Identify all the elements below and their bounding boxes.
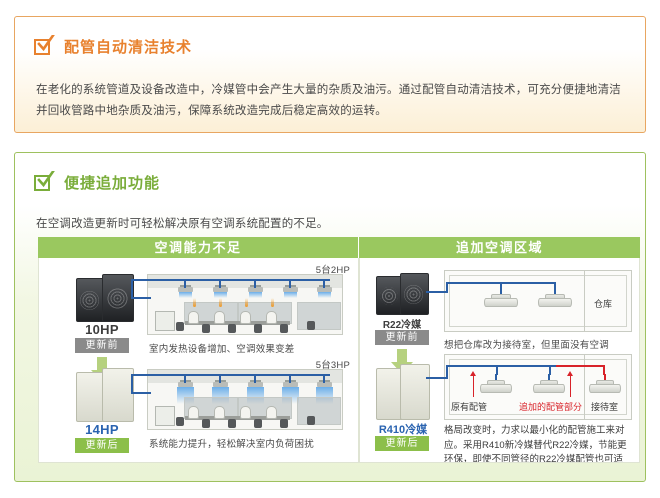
outdoor-unit-after-2: [102, 368, 134, 422]
bottom-text-right: 格局改变时，力求以最小化的配管施工来对应。采用R410新冷媒替代R22冷媒，节能…: [444, 424, 630, 463]
column-body-zone: R22冷媒 更新前 仓库: [359, 258, 640, 463]
column-body-capacity: 5台2HP 10HP 更新前: [38, 258, 359, 463]
body-text-easy-addition: 在空调改造更新时可轻松解决原有空调系统配置的不足。: [36, 214, 630, 235]
heading-easy-addition: 便捷追加功能: [34, 172, 160, 193]
column-header-capacity: 空调能力不足: [38, 237, 359, 258]
caption-bottom-left: 系统能力提升，轻松解决室内负荷困扰: [149, 436, 314, 450]
outdoor-unit-r410: [376, 368, 403, 420]
check-box-icon: [34, 173, 55, 193]
outdoor-unit-r22: [376, 276, 403, 315]
status-badge-after-right: 更新后: [375, 436, 429, 451]
heading-pipe-cleaning: 配管自动清洁技术: [34, 36, 192, 57]
comparison-table: 空调能力不足 5台2HP 10HP 更新前: [38, 237, 640, 463]
table-column-zone: 追加空调区域 R22冷媒 更新前: [359, 237, 640, 463]
ceiling-cassette-before-1: [484, 294, 518, 309]
outdoor-unit-after: [76, 372, 105, 422]
column-header-zone: 追加空调区域: [359, 237, 640, 258]
ceiling-cassette-after-3: [589, 380, 621, 395]
status-badge-before: 更新前: [75, 338, 129, 353]
pipe-label-added: 追加的配管部分: [519, 400, 582, 413]
ceiling-cassette-after-1: [480, 380, 512, 395]
table-column-capacity: 空调能力不足 5台2HP 10HP 更新前: [38, 237, 359, 463]
status-badge-before-right: 更新前: [375, 330, 429, 345]
page-title-easy-addition: 便捷追加功能: [64, 172, 160, 193]
outdoor-unit-before-2: [102, 274, 134, 322]
caption-middle-right: 想把仓库改为接待室，但里面没有空调: [444, 337, 609, 351]
outdoor-unit-r410-2: [400, 364, 430, 420]
pipe-label-existing: 原有配管: [451, 400, 487, 413]
page-title-pipe-cleaning: 配管自动清洁技术: [64, 36, 192, 57]
outdoor-unit-r22-2: [400, 273, 429, 315]
body-text-pipe-cleaning: 在老化的系统管道及设备改造中，冷媒管中会产生大量的杂质及油污。通过配管自动清洁技…: [36, 80, 630, 123]
status-badge-after: 更新后: [75, 438, 129, 453]
room-label-warehouse: 仓库: [594, 297, 612, 310]
room-label-reception: 接待室: [591, 400, 618, 413]
refrigerant-label-before: R22冷媒: [366, 316, 438, 331]
page-root: 配管自动清洁技术 在老化的系统管道及设备改造中，冷媒管中会产生大量的杂质及油污。…: [0, 0, 660, 498]
capacity-label-after: 14HP: [67, 422, 137, 437]
outdoor-unit-before: [76, 278, 105, 322]
check-box-icon: [34, 37, 55, 57]
refrigerant-label-after: R410冷媒: [362, 421, 444, 437]
caption-middle-left: 室内发热设备增加、空调效果变差: [149, 341, 295, 355]
ceiling-cassette-before-2: [538, 294, 572, 309]
capacity-label-before: 10HP: [67, 322, 137, 337]
ceiling-cassette-after-2: [533, 380, 565, 395]
